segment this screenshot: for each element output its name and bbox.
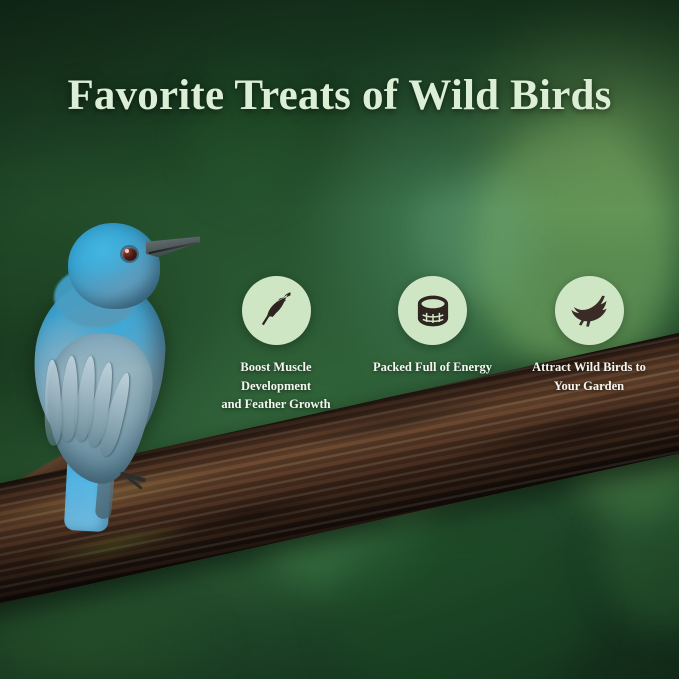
suet-cake-icon <box>413 291 453 331</box>
feature-item-attract-birds: Attract Wild Birds to Your Garden <box>518 276 660 395</box>
feature-item-boost-muscle: Boost Muscle Development and Feather Gro… <box>205 276 347 414</box>
feature-label: Boost Muscle Development and Feather Gro… <box>211 358 341 414</box>
feature-icon-badge <box>555 276 624 345</box>
flying-bird-icon <box>568 290 610 332</box>
page-title: Favorite Treats of Wild Birds <box>0 74 679 117</box>
feature-label: Packed Full of Energy <box>362 358 504 377</box>
feather-icon <box>256 291 296 331</box>
product-lifestyle-banner: Favorite Treats of Wild Birds <box>0 0 679 679</box>
feature-list: Boost Muscle Development and Feather Gro… <box>205 276 660 426</box>
feature-item-packed-energy: Packed Full of Energy <box>362 276 504 377</box>
feature-label: Attract Wild Birds to Your Garden <box>525 358 653 395</box>
feature-icon-badge <box>398 276 467 345</box>
feature-icon-badge <box>242 276 311 345</box>
